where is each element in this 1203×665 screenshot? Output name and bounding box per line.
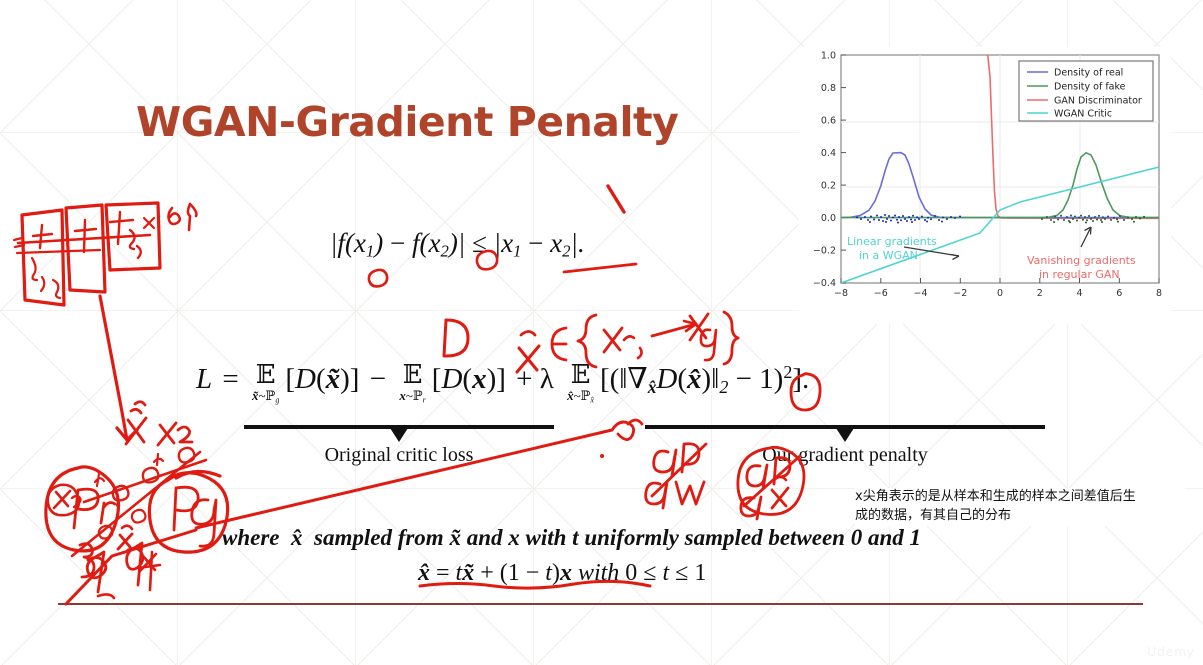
bottom-divider-rule <box>58 603 1143 605</box>
svg-text:0.2: 0.2 <box>821 181 836 192</box>
watermark: Udemy <box>1147 645 1195 659</box>
svg-text:1.0: 1.0 <box>821 51 836 62</box>
chinese-annotation-note: x尖角表示的是从样本和生成的样本之间差值后生 成的数据，有其自己的分布 <box>855 488 1185 526</box>
lipschitz-equation: |f(x1) − f(x2)| ≤ |x1 − x2|. <box>330 228 585 262</box>
legend-label-density-real: Density of real <box>1054 68 1123 79</box>
brace-label-original-critic-loss: Original critic loss <box>244 444 554 467</box>
wgan-gp-loss-equation: L = 𝔼 x̃~ℙg [D(x̃)] − 𝔼 x~ℙr [D(x)] + λ … <box>196 358 809 400</box>
legend-label-density-fake: Density of fake <box>1054 82 1126 93</box>
ink-circle-pr <box>46 467 119 551</box>
brace-gradient-penalty <box>645 425 1045 443</box>
expectation-generated: 𝔼 x̃~ℙg <box>252 362 279 404</box>
ink-label-64 <box>168 204 196 230</box>
legend-label-wgan-critic: WGAN Critic <box>1054 109 1112 120</box>
svg-text:−6: −6 <box>874 288 888 299</box>
chinese-annotation-line-1: x尖角表示的是从样本和生成的样本之间差值后生 <box>855 488 1185 507</box>
svg-text:2: 2 <box>1037 288 1043 299</box>
chart-svg: 1.0 0.8 0.6 0.4 0.2 0.0 −0.2 −0.4 <box>799 47 1171 324</box>
svg-text:0: 0 <box>997 288 1003 299</box>
ink-interpolation-line <box>72 448 206 556</box>
legend-label-gan-discriminator: GAN Discriminator <box>1054 96 1142 107</box>
brace-original-critic-loss <box>244 425 554 443</box>
svg-text:−0.4: −0.4 <box>813 278 836 289</box>
svg-text:−8: −8 <box>834 288 848 299</box>
ink-circle-pg <box>149 471 227 552</box>
svg-text:0.0: 0.0 <box>821 213 836 224</box>
page-title: WGAN-Gradient Penalty <box>136 98 678 146</box>
brace-label-gradient-penalty: Our gradient penalty <box>645 444 1045 467</box>
ink-boxes-top-left <box>14 203 160 305</box>
slide-canvas: WGAN-Gradient Penalty |f(x1) − f(x2)| ≤ … <box>0 0 1203 665</box>
chinese-annotation-line-2: 成的数据，有其自己的分布 <box>855 507 1185 526</box>
wgan-vs-gan-chart: 1.0 0.8 0.6 0.4 0.2 0.0 −0.2 −0.4 <box>799 47 1171 324</box>
ink-arrow-down-left <box>100 296 137 440</box>
svg-text:Vanishing gradients: Vanishing gradients <box>1027 254 1136 267</box>
svg-text:0.4: 0.4 <box>821 148 836 159</box>
expectation-real: 𝔼 x~ℙr <box>399 362 425 404</box>
ink-tick-mark <box>608 186 624 212</box>
expectation-interpolated: 𝔼 x̂~ℙx̂ <box>567 362 594 404</box>
svg-text:in a WGAN: in a WGAN <box>859 249 918 262</box>
svg-text:−0.2: −0.2 <box>813 246 836 257</box>
chart-legend: Density of real Density of fake GAN Disc… <box>1019 61 1153 121</box>
svg-text:8: 8 <box>1156 288 1162 299</box>
svg-text:6: 6 <box>1116 288 1122 299</box>
svg-text:Linear gradients: Linear gradients <box>847 235 937 248</box>
svg-text:−4: −4 <box>913 288 927 299</box>
ink-label-x1-in-pr <box>48 485 81 516</box>
svg-text:0.6: 0.6 <box>821 116 836 127</box>
svg-text:4: 4 <box>1076 288 1082 299</box>
ink-stroke-to-where <box>66 530 196 604</box>
svg-text:−2: −2 <box>953 288 967 299</box>
ink-label-xtilde <box>126 402 146 444</box>
ink-label-x2 <box>158 423 192 445</box>
svg-text:in regular GAN: in regular GAN <box>1039 268 1120 281</box>
where-clause: where x̂ sampled from x̃ and x with t un… <box>222 525 921 551</box>
ink-ddx-bottom-left <box>80 526 160 598</box>
xhat-definition: x̂ = tx̃ + (1 − t)x with 0 ≤ t ≤ 1 <box>418 560 706 587</box>
svg-text:0.8: 0.8 <box>821 83 836 94</box>
